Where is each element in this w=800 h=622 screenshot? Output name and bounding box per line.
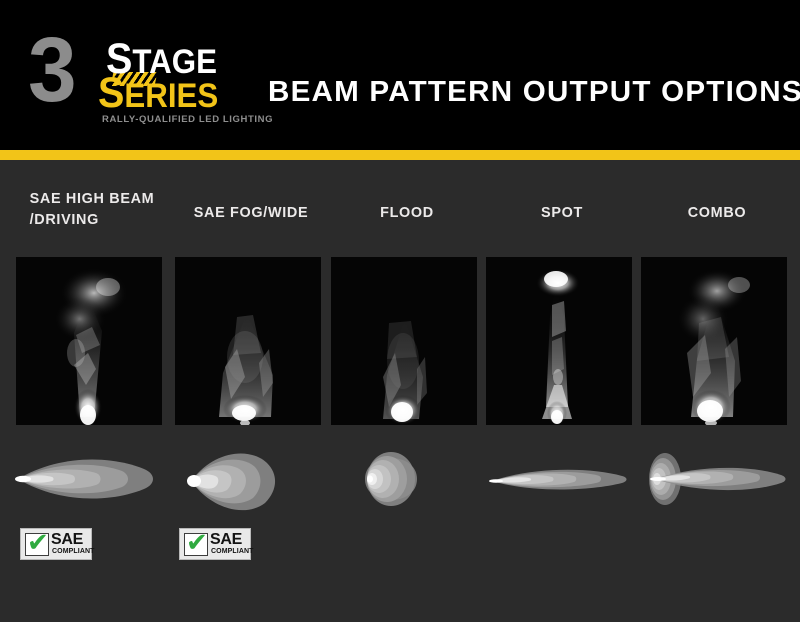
column-title-sae-fog-wide: SAE FOG/WIDE <box>170 202 331 223</box>
column-title-combo: COMBO <box>636 202 797 223</box>
brand-logo: 3 STAGE SERIES RALLY-QUALIFIED LED LIGHT… <box>28 28 258 128</box>
beam-photo-sae-fog-wide <box>175 257 321 425</box>
column-title-spot: SPOT <box>481 202 642 223</box>
sae-badge-word: SAE <box>51 532 83 548</box>
beam-pattern-grid: SAE HIGH BEAM /DRIVING <box>0 160 800 622</box>
beam-column-sae-high-beam-driving: SAE HIGH BEAM /DRIVING <box>16 160 168 622</box>
beam-photo-flood <box>331 257 477 425</box>
column-title-line1: FLOOD <box>326 202 487 223</box>
beam-column-spot: SPOT <box>486 160 638 622</box>
poster-header: 3 STAGE SERIES RALLY-QUALIFIED LED LIGHT… <box>0 0 800 150</box>
page-title: BEAM PATTERN OUTPUT OPTIONS <box>268 76 800 109</box>
logo-tagline: RALLY-QUALIFIED LED LIGHTING <box>102 114 273 125</box>
sae-badge-word: SAE <box>210 532 242 548</box>
beam-diagram-sae-high-beam-driving <box>10 443 172 515</box>
logo-series-rest: ERIES <box>124 77 218 115</box>
logo-word-series: SERIES <box>98 76 218 113</box>
beam-column-combo: COMBO <box>641 160 793 622</box>
beam-diagram-combo <box>635 443 797 515</box>
column-title-line1: COMBO <box>636 202 797 223</box>
sae-badge-sub: COMPLIANT <box>52 548 95 556</box>
beam-pattern-poster: 3 STAGE SERIES RALLY-QUALIFIED LED LIGHT… <box>0 0 800 622</box>
sae-compliant-badge-sae-fog-wide: ✔ SAE COMPLIANT <box>179 528 251 560</box>
beam-photo-sae-high-beam-driving <box>16 257 162 425</box>
sae-compliant-badge-sae-high-beam-driving: ✔ SAE COMPLIANT <box>20 528 92 560</box>
beam-column-flood: FLOOD <box>331 160 483 622</box>
accent-divider-bar <box>0 150 800 160</box>
logo-numeral-3: 3 <box>28 24 73 116</box>
beam-diagram-flood <box>325 443 487 515</box>
check-icon: ✔ <box>186 530 208 556</box>
check-icon: ✔ <box>27 530 49 556</box>
beam-column-sae-fog-wide: SAE FOG/WIDE <box>175 160 327 622</box>
beam-photo-spot <box>486 257 632 425</box>
logo-series-initial: S <box>98 69 124 117</box>
column-title-flood: FLOOD <box>326 202 487 223</box>
column-title-line1: SPOT <box>481 202 642 223</box>
beam-diagram-spot <box>480 443 642 515</box>
sae-badge-sub: COMPLIANT <box>211 548 254 556</box>
beam-diagram-sae-fog-wide <box>169 443 331 515</box>
column-title-line1: SAE FOG/WIDE <box>170 202 331 223</box>
beam-photo-combo <box>641 257 787 425</box>
